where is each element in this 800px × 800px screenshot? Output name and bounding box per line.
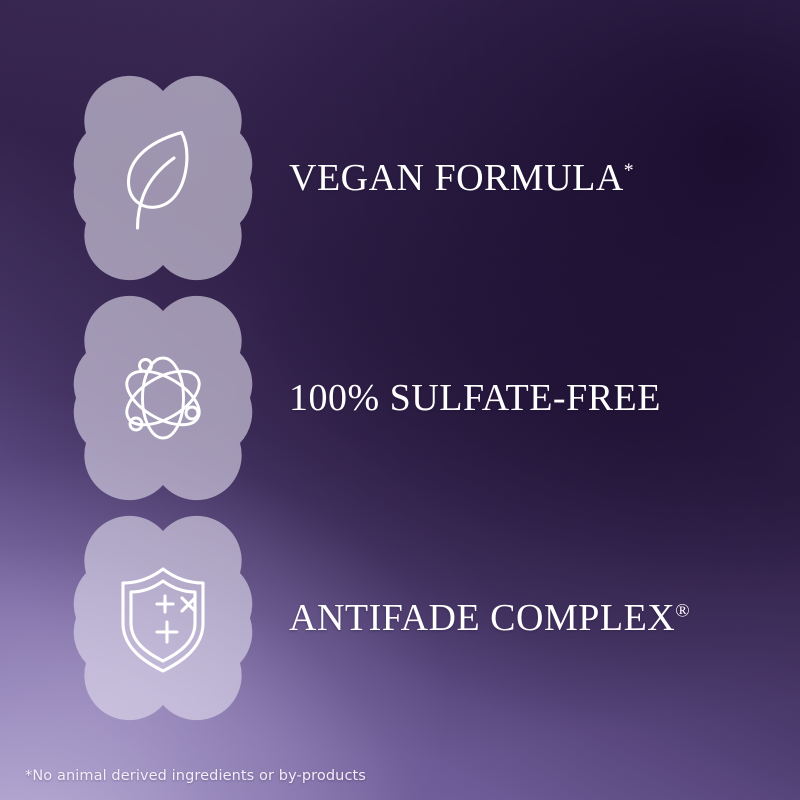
feature-row-antifade-complex: ANTIFADE COMPLEX® [0, 518, 800, 718]
feature-label-antifade-complex: ANTIFADE COMPLEX® [289, 599, 690, 637]
badge-vegan-formula [70, 85, 256, 271]
asterisk-marker: * [624, 159, 634, 181]
product-benefits-panel: VEGAN FORMULA* [0, 0, 800, 800]
feature-label-text: ANTIFADE COMPLEX [289, 597, 675, 639]
feature-row-sulfate-free: 100% SULFATE-FREE [0, 298, 800, 498]
feature-label-sulfate-free: 100% SULFATE-FREE [289, 379, 661, 417]
feature-label-vegan-formula: VEGAN FORMULA* [289, 159, 634, 197]
footnote-disclaimer: *No animal derived ingredients or by-pro… [25, 768, 366, 784]
feature-label-text: 100% SULFATE-FREE [289, 377, 661, 419]
quatrefoil-shape [74, 516, 253, 720]
registered-trademark-marker: ® [675, 600, 690, 621]
quatrefoil-shape [74, 76, 253, 280]
feature-list: VEGAN FORMULA* [0, 0, 800, 800]
badge-sulfate-free [70, 305, 256, 491]
feature-row-vegan-formula: VEGAN FORMULA* [0, 78, 800, 278]
badge-antifade-complex [70, 525, 256, 711]
feature-label-text: VEGAN FORMULA [289, 157, 624, 199]
quatrefoil-shape [74, 296, 253, 500]
